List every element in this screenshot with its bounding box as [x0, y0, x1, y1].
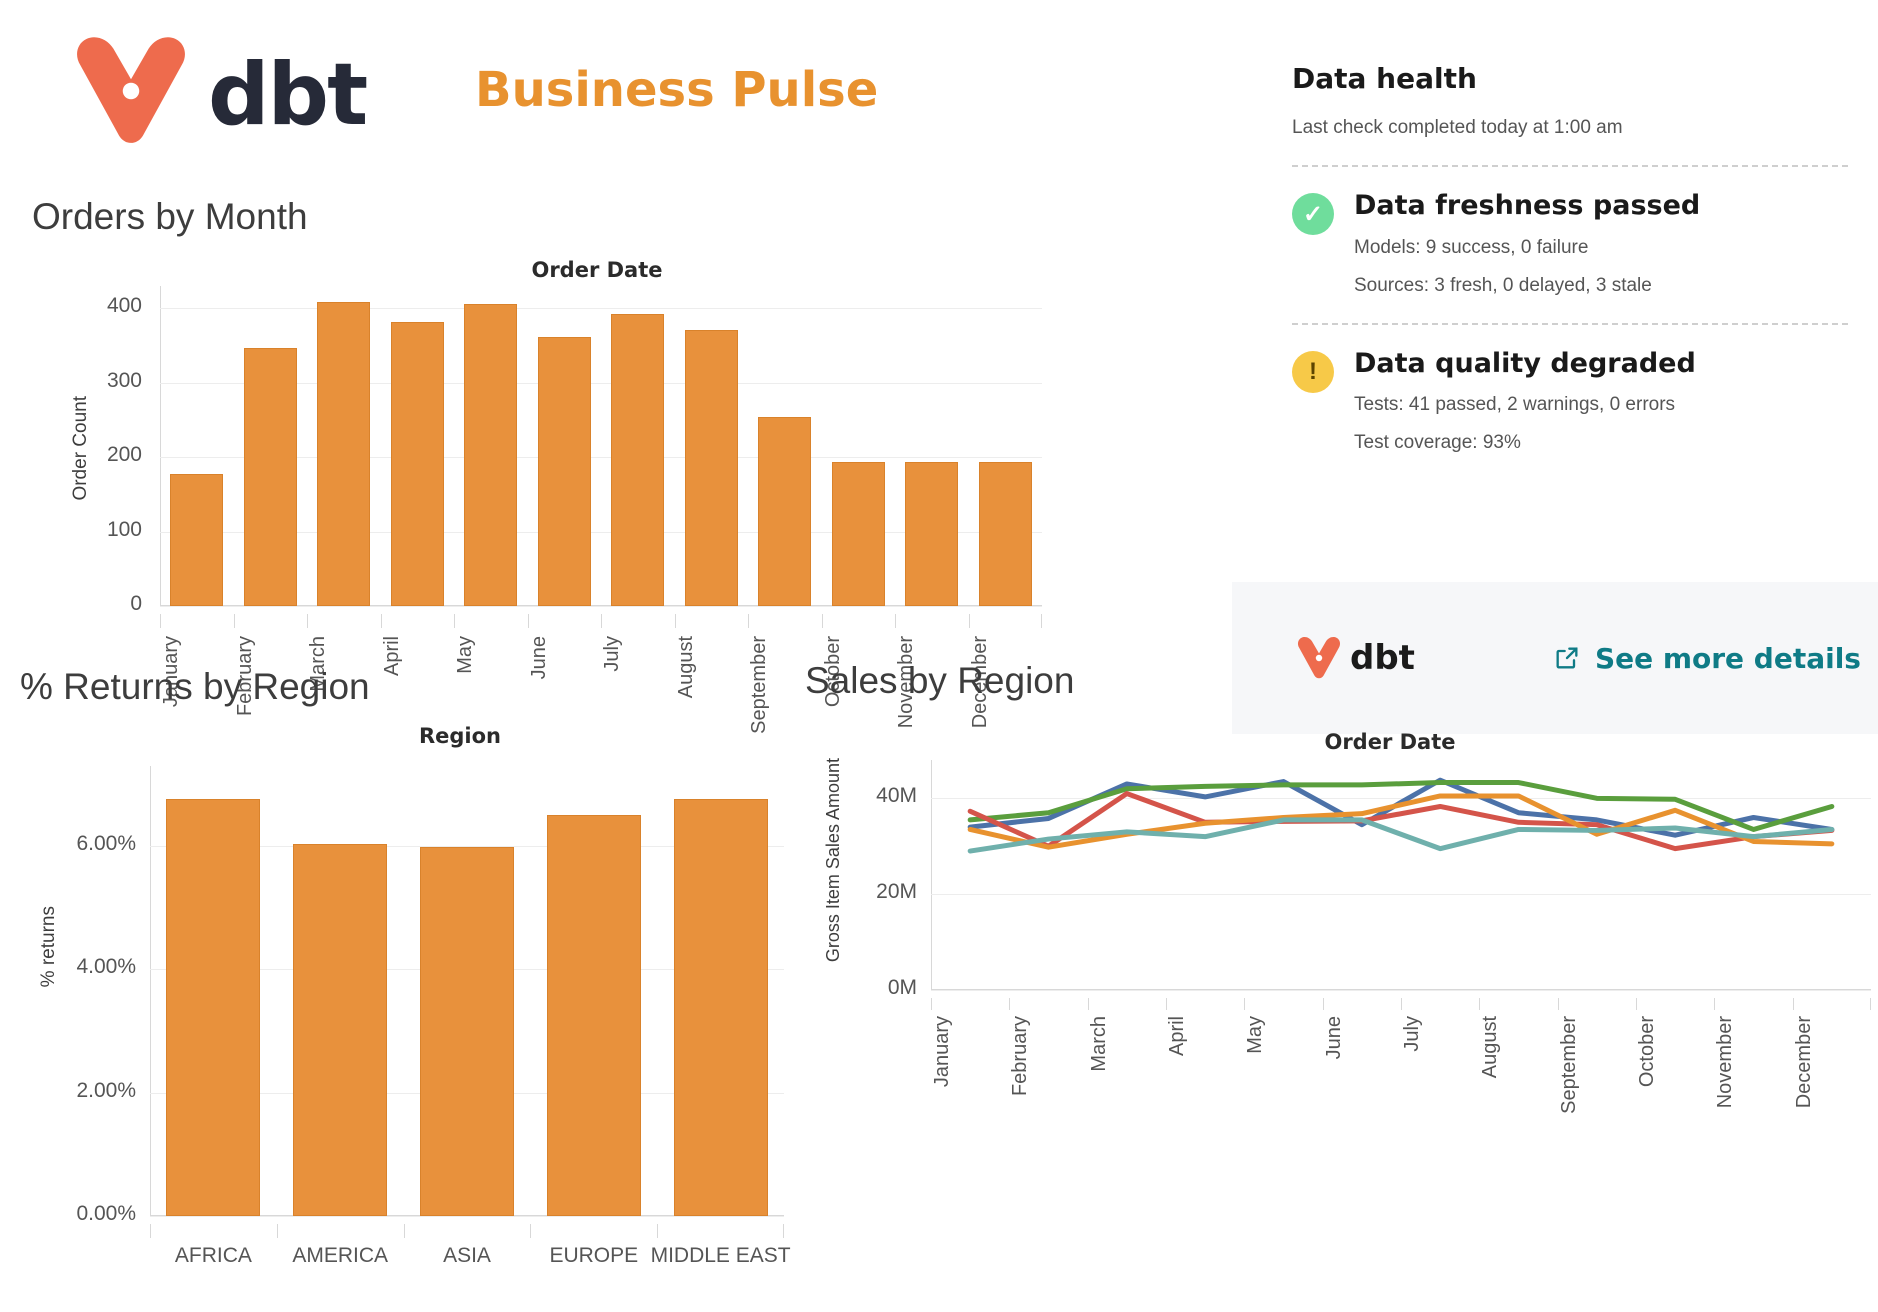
x-tick-label: July	[1401, 1016, 1479, 1052]
y-tick-label: 6.00%	[46, 832, 136, 856]
bar[interactable]	[391, 322, 444, 606]
y-tick-label: 100	[84, 518, 142, 542]
y-tick-label: 400	[84, 294, 142, 318]
y-axis-line	[160, 286, 161, 606]
y-tick-label: 40M	[831, 784, 917, 808]
gridline	[160, 606, 1042, 607]
y-tick-label: 2.00%	[46, 1079, 136, 1103]
x-tick-label: August	[1479, 1016, 1557, 1078]
dbt-wordmark: dbt	[208, 52, 366, 138]
line-series-group	[931, 760, 1871, 990]
axis-tick	[1323, 998, 1324, 1010]
last-check-text: Last check completed today at 1:00 am	[1292, 117, 1848, 139]
bar[interactable]	[170, 474, 223, 606]
gridline	[160, 308, 1042, 309]
axis-tick	[748, 614, 749, 628]
bar[interactable]	[979, 462, 1032, 606]
axis-tick	[234, 614, 235, 628]
axis-tick	[1009, 998, 1010, 1010]
bar[interactable]	[832, 462, 885, 606]
sales-x-ticks: JanuaryFebruaryMarchAprilMayJuneJulyAugu…	[931, 998, 1871, 1128]
axis-tick	[969, 614, 970, 628]
dbt-logo: dbt	[72, 32, 366, 150]
axis-tick	[675, 614, 676, 628]
x-tick-label: March	[1088, 1016, 1166, 1072]
quality-coverage-line: Test coverage: 93%	[1354, 432, 1696, 454]
bar[interactable]	[758, 417, 811, 606]
x-tick-label: September	[1558, 1016, 1636, 1114]
x-tick-label: January	[931, 1016, 1009, 1087]
returns-y-ticks: 0.00%2.00%4.00%6.00%	[56, 766, 146, 1216]
freshness-models-line: Models: 9 success, 0 failure	[1354, 237, 1700, 259]
x-tick-label: December	[1793, 1016, 1871, 1108]
bar[interactable]	[611, 314, 664, 606]
check-circle-icon: ✓	[1292, 193, 1334, 235]
axis-tick	[1636, 998, 1637, 1010]
x-tick-label: June	[1323, 1016, 1401, 1059]
axis-tick	[1244, 998, 1245, 1010]
divider	[1292, 323, 1848, 325]
sales-y-ticks: 0M20M40M	[841, 760, 927, 990]
data-health-title: Data health	[1292, 62, 1848, 95]
axis-tick	[160, 614, 161, 628]
axis-tick	[381, 614, 382, 628]
y-tick-label: 0M	[831, 976, 917, 1000]
axis-tick	[277, 1224, 278, 1238]
axis-tick	[1401, 998, 1402, 1010]
orders-chart-title: Order Date	[152, 258, 1042, 282]
y-tick-label: 0	[84, 592, 142, 616]
axis-tick	[783, 1224, 784, 1238]
data-health-panel: Data health Last check completed today a…	[1292, 62, 1848, 454]
line-series[interactable]	[970, 796, 1832, 847]
bar[interactable]	[166, 799, 260, 1216]
bar[interactable]	[538, 337, 591, 606]
x-tick-label: AFRICA	[150, 1244, 277, 1268]
returns-panel-heading: % Returns by Region	[20, 666, 370, 708]
orders-plot-area	[160, 286, 1042, 606]
y-axis-line	[150, 766, 151, 1216]
bar[interactable]	[464, 304, 517, 606]
axis-tick	[528, 614, 529, 628]
axis-tick	[931, 998, 932, 1010]
axis-tick	[1558, 998, 1559, 1010]
sales-panel-heading: Sales by Region	[805, 660, 1074, 702]
warning-circle-icon: !	[1292, 351, 1334, 393]
freshness-sources-line: Sources: 3 fresh, 0 delayed, 3 stale	[1354, 275, 1700, 297]
bar[interactable]	[420, 847, 514, 1216]
x-tick-label: October	[1636, 1016, 1714, 1087]
quality-tests-line: Tests: 41 passed, 2 warnings, 0 errors	[1354, 394, 1696, 416]
returns-by-region-panel: % Returns by Region Region % returns 0.0…	[20, 666, 820, 1296]
x-tick-label: May	[1244, 1016, 1322, 1054]
axis-tick	[1088, 998, 1089, 1010]
x-tick-label: MIDDLE EAST	[657, 1244, 784, 1268]
sales-by-region-panel: Sales by Region Order Date Gross Item Sa…	[805, 660, 1878, 1312]
orders-by-month-panel: Orders by Month Order Date Order Count 0…	[32, 196, 1232, 636]
y-tick-label: 4.00%	[46, 955, 136, 979]
axis-tick	[1041, 614, 1042, 628]
freshness-heading: Data freshness passed	[1354, 191, 1700, 221]
y-tick-label: 200	[84, 443, 142, 467]
bar[interactable]	[674, 799, 768, 1216]
y-tick-label: 20M	[831, 880, 917, 904]
x-tick-label: February	[1009, 1016, 1087, 1096]
x-tick-label: EUROPE	[530, 1244, 657, 1268]
gridline	[931, 990, 1871, 991]
bar[interactable]	[547, 815, 641, 1216]
returns-plot-area	[150, 766, 784, 1216]
orders-panel-heading: Orders by Month	[32, 196, 308, 238]
returns-x-ticks: AFRICAAMERICAASIAEUROPEMIDDLE EAST	[150, 1224, 784, 1264]
dbt-logo-icon	[72, 32, 190, 150]
orders-y-ticks: 0100200300400	[94, 286, 152, 606]
sales-plot-area	[931, 760, 1871, 990]
sales-chart-title: Order Date	[915, 730, 1865, 754]
x-tick-label: ASIA	[404, 1244, 531, 1268]
health-item-freshness: ✓ Data freshness passed Models: 9 succes…	[1292, 191, 1848, 297]
axis-tick	[1166, 998, 1167, 1010]
axis-tick	[307, 614, 308, 628]
returns-chart-title: Region	[130, 724, 790, 748]
axis-tick	[454, 614, 455, 628]
axis-tick	[1870, 998, 1871, 1010]
axis-tick	[657, 1224, 658, 1238]
gridline	[150, 1216, 784, 1217]
y-tick-label: 0.00%	[46, 1202, 136, 1226]
axis-tick	[1479, 998, 1480, 1010]
divider	[1292, 165, 1848, 167]
axis-tick	[150, 1224, 151, 1238]
x-tick-label: AMERICA	[277, 1244, 404, 1268]
axis-tick	[404, 1224, 405, 1238]
x-tick-label: April	[1166, 1016, 1244, 1056]
y-tick-label: 300	[84, 369, 142, 393]
health-item-quality: ! Data quality degraded Tests: 41 passed…	[1292, 349, 1848, 455]
bar[interactable]	[685, 330, 738, 606]
axis-tick	[1793, 998, 1794, 1010]
bar[interactable]	[244, 348, 297, 606]
quality-heading: Data quality degraded	[1354, 349, 1696, 379]
bar[interactable]	[905, 462, 958, 606]
bar[interactable]	[317, 302, 370, 606]
x-tick-label: November	[1714, 1016, 1792, 1108]
axis-tick	[1714, 998, 1715, 1010]
bar[interactable]	[293, 844, 387, 1216]
axis-tick	[822, 614, 823, 628]
axis-tick	[601, 614, 602, 628]
page-title: Business Pulse	[475, 62, 878, 118]
axis-tick	[895, 614, 896, 628]
axis-tick	[530, 1224, 531, 1238]
